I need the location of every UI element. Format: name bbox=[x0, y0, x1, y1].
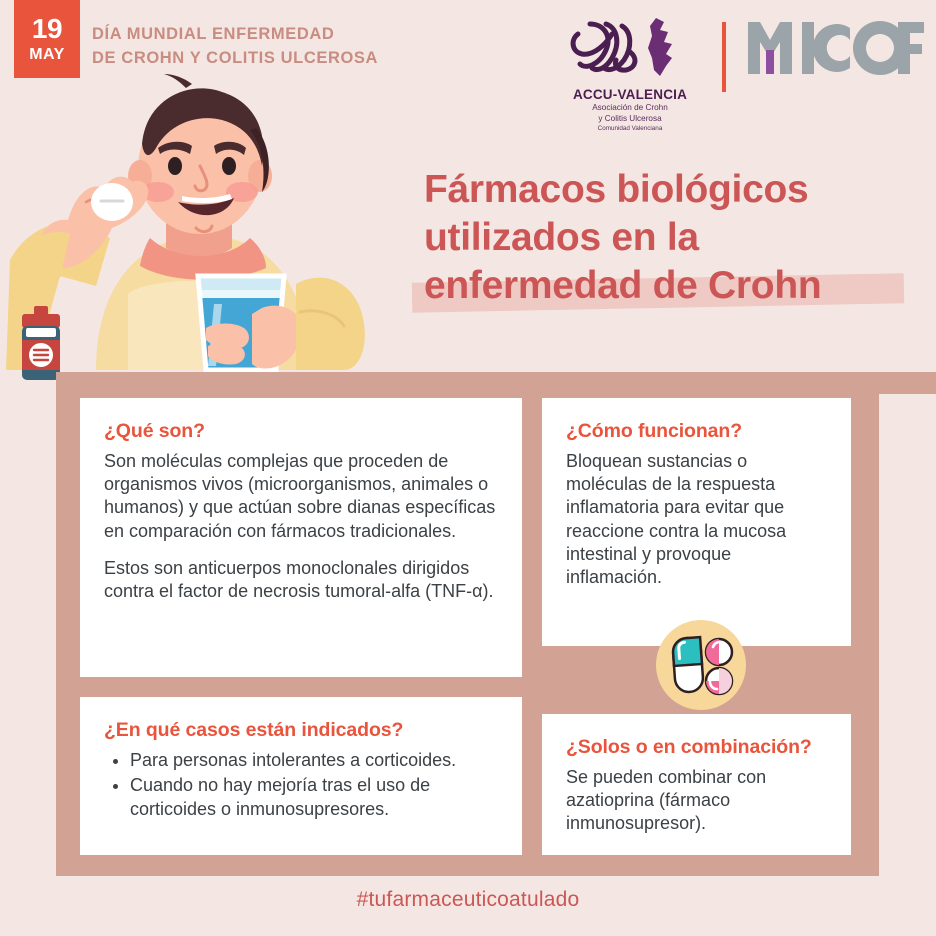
header-title: DÍA MUNDIAL ENFERMEDAD DE CROHN Y COLITI… bbox=[92, 23, 492, 71]
header-title-line1: DÍA MUNDIAL ENFERMEDAD bbox=[92, 23, 492, 47]
card-en-que-casos: ¿En qué casos están indicados? Para pers… bbox=[80, 697, 522, 855]
list-item: Para personas intolerantes a corticoides… bbox=[130, 749, 498, 773]
logo-divider bbox=[722, 22, 726, 92]
date-badge-month: MAY bbox=[29, 47, 65, 63]
main-title-line1: Fármacos biológicos bbox=[424, 166, 924, 214]
card-heading: ¿Cómo funcionan? bbox=[566, 420, 827, 443]
main-title-line3: enfermedad de Crohn bbox=[424, 262, 924, 310]
footer-hashtag: #tufarmaceuticoatulado bbox=[0, 888, 936, 912]
micof-logo bbox=[746, 16, 924, 98]
date-badge-day: 19 bbox=[32, 15, 62, 43]
accu-logo-name: ACCU-VALENCIA bbox=[560, 87, 700, 102]
date-badge: 19 MAY bbox=[14, 0, 80, 78]
infographic-root: 19 MAY DÍA MUNDIAL ENFERMEDAD DE CROHN Y… bbox=[0, 0, 936, 936]
card-paragraph: Son moléculas complejas que proceden de … bbox=[104, 450, 498, 543]
card-paragraph: Se pueden combinar con azatioprina (fárm… bbox=[566, 766, 827, 836]
medicine-bottle-icon bbox=[22, 306, 60, 380]
accu-logo-subtitle: Asociación de Crohn y Colitis Ulcerosa bbox=[560, 103, 700, 124]
card-heading: ¿En qué casos están indicados? bbox=[104, 719, 498, 742]
pills-capsule-circle-icon bbox=[656, 620, 746, 710]
card-como-funcionan: ¿Cómo funcionan? Bloquean sustancias o m… bbox=[542, 398, 851, 646]
card-paragraph: Bloquean sustancias o moléculas de la re… bbox=[566, 450, 827, 589]
man-taking-pill-with-glass-of-water-illustration bbox=[0, 70, 430, 382]
list-item: Cuando no hay mejoría tras el uso de cor… bbox=[130, 774, 498, 822]
micof-wordmark-icon bbox=[746, 16, 924, 88]
card-que-son: ¿Qué son? Son moléculas complejas que pr… bbox=[80, 398, 522, 677]
main-title-line2: utilizados en la bbox=[424, 214, 924, 262]
card-heading: ¿Qué son? bbox=[104, 420, 498, 443]
accu-valencia-logo: ACCU-VALENCIA Asociación de Crohn y Coli… bbox=[560, 14, 700, 130]
accu-sub-line3: Comunidad Valenciana bbox=[560, 125, 700, 132]
card-bullet-list: Para personas intolerantes a corticoides… bbox=[104, 749, 498, 821]
accu-sub-line1: Asociación de Crohn bbox=[560, 103, 700, 114]
accu-scribble-valencia-map-icon bbox=[560, 14, 700, 86]
card-paragraph: Estos son anticuerpos monoclonales dirig… bbox=[104, 557, 498, 603]
accu-sub-line2: y Colitis Ulcerosa bbox=[560, 114, 700, 125]
header-title-line2: DE CROHN Y COLITIS ULCEROSA bbox=[92, 47, 492, 71]
main-title: Fármacos biológicos utilizados en la enf… bbox=[424, 166, 924, 310]
card-heading: ¿Solos o en combinación? bbox=[566, 736, 827, 759]
card-solos-o-combinacion: ¿Solos o en combinación? Se pueden combi… bbox=[542, 714, 851, 855]
